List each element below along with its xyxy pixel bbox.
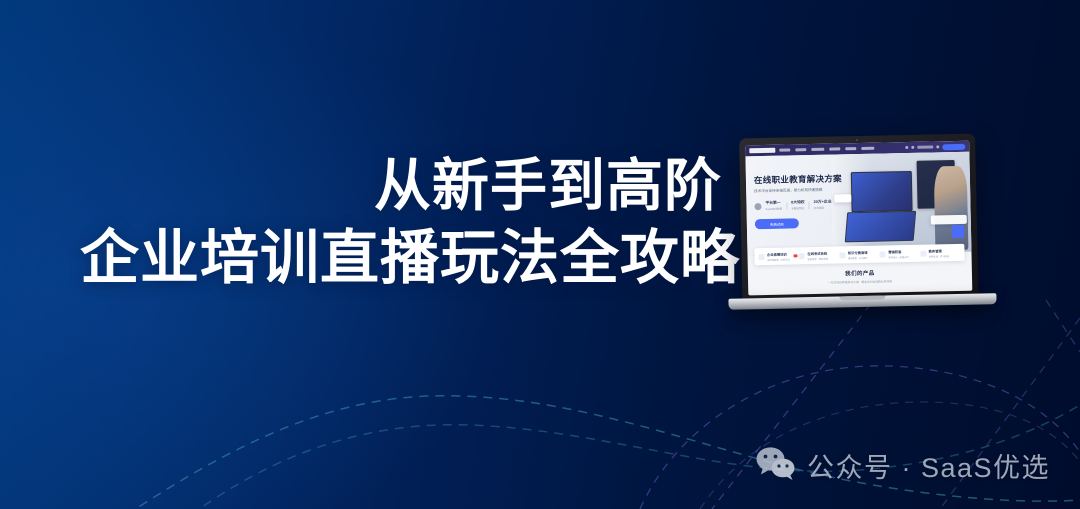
stats-avatar [754,203,761,210]
hero-stat-2: 8大特权 专属定制化 [791,200,805,210]
feature-card-sub: 课程售卖 · 分销推广 [848,255,869,259]
feature-card[interactable]: 教务管理 学员管理 · 学习报表 [920,247,961,258]
hero-title: 在线职业教育解决方案 [754,172,884,187]
nav-item-products[interactable] [779,148,790,151]
feature-card[interactable]: 营销获客 裂变增长 · 数据分析 [880,248,921,259]
wechat-icon [756,447,796,485]
website-nav-items [779,146,901,152]
headline-block: 从新手到高阶 企业培训直播玩法全攻略 [0,155,744,291]
feature-card-sub: 智能组卷 · 题库管理 [807,256,828,260]
feature-card-sub: 裂变增长 · 数据分析 [888,255,909,259]
hero-stat-2-value: 8大特权 [791,200,805,205]
feature-card[interactable]: 知识付费商城 课程售卖 · 分销推广 [839,249,880,260]
feature-icon [920,250,926,256]
hero-cta-label: 免费试用 [770,221,784,226]
website-logo [749,148,775,154]
hero-stat-1: 平台第一 SaaS在线教育 [765,201,782,211]
website-section: 我们的产品 一站式在线教育解决方案 · 覆盖培训全链路业务场景 [748,267,972,287]
feature-card-title: 营销获客 [888,249,909,254]
feature-card-sub: 学员管理 · 学习报表 [929,254,950,258]
feature-icon [758,254,764,260]
watermark-text: 公众号 · SaaS优选 [807,446,1050,485]
promo-banner: 从新手到高阶 企业培训直播玩法全攻略 [0,0,1080,509]
user-icon[interactable] [936,145,939,148]
feature-icon [799,253,805,259]
phone-icon[interactable] [911,146,914,149]
feature-card-title: 在线考试系统 [807,250,828,255]
website-hero: 在线职业教育解决方案 技术中台支持多端互通，助力机构快速搭建 平台第一 SaaS… [745,152,971,257]
hero-stat-3-label: 正在使用 [814,206,832,210]
feature-card-title: 教务管理 [929,248,950,253]
arc-purple-1 [640,366,1080,509]
stat-divider-2 [809,202,810,209]
feature-icon [880,251,886,257]
nav-item-pricing[interactable] [829,147,840,150]
feature-card-title: 企业直播培训 [767,251,790,256]
hot-badge-icon [793,255,797,258]
nav-item-solutions[interactable] [795,148,806,151]
headline-line-1: 从新手到高阶 [0,155,744,219]
feature-card[interactable]: 企业直播培训 多终端直播 · 实时互动 [758,251,799,262]
website-nav-right [905,143,965,150]
diagonal-purple-2 [1046,300,1080,352]
webcam-icon [856,139,858,141]
person-photo [934,166,969,251]
feature-card-sub: 多终端直播 · 实时互动 [767,257,790,261]
nav-item-cases[interactable] [811,148,824,151]
hero-stat-1-label: SaaS在线教育 [765,207,782,211]
watermark: 公众号 · SaaS优选 [756,446,1050,485]
globe-icon[interactable] [905,146,908,149]
section-subtitle: 一站式在线教育解决方案 · 覆盖培训全链路业务场景 [748,278,972,287]
hero-stat-1-value: 平台第一 [765,201,782,206]
nav-item-about[interactable] [861,147,874,150]
hero-stat-3: 20万+企业 正在使用 [814,200,832,210]
search-input[interactable] [917,145,933,148]
feature-card-title: 知识付费商城 [848,249,869,254]
avatar-badge [951,225,964,238]
laptop-mockup: 在线职业教育解决方案 技术中台支持多端互通，助力机构快速搭建 平台第一 SaaS… [725,133,997,327]
headline-line-2: 企业培训直播玩法全攻略 [0,225,744,291]
laptop-screen: 在线职业教育解决方案 技术中台支持多端互通，助力机构快速搭建 平台第一 SaaS… [745,141,972,296]
laptop-lid: 在线职业教育解决方案 技术中台支持多端互通，助力机构快速搭建 平台第一 SaaS… [739,134,978,302]
hero-subtitle: 技术中台支持多端互通，助力机构快速搭建 [754,187,884,195]
feature-card-strip: 企业直播培训 多终端直播 · 实时互动 在线考试系统 智能组卷 · 题库管理 [754,244,964,265]
hero-stat-2-label: 专属定制化 [791,206,805,210]
laptop-notch [839,296,885,301]
stat-divider-1 [786,202,787,209]
free-trial-button[interactable] [942,143,965,149]
feature-card[interactable]: 在线考试系统 智能组卷 · 题库管理 [799,250,840,261]
hero-cta-button[interactable]: 免费试用 [755,218,799,229]
nav-item-help[interactable] [845,147,856,150]
hero-stats: 平台第一 SaaS在线教育 8大特权 专属定制化 20万+企业 [754,199,884,212]
feature-icon [839,252,845,258]
hero-stat-3-value: 20万+企业 [814,200,832,205]
floating-card-1 [930,215,966,225]
hero-copy: 在线职业教育解决方案 技术中台支持多端互通，助力机构快速搭建 平台第一 SaaS… [754,172,885,230]
